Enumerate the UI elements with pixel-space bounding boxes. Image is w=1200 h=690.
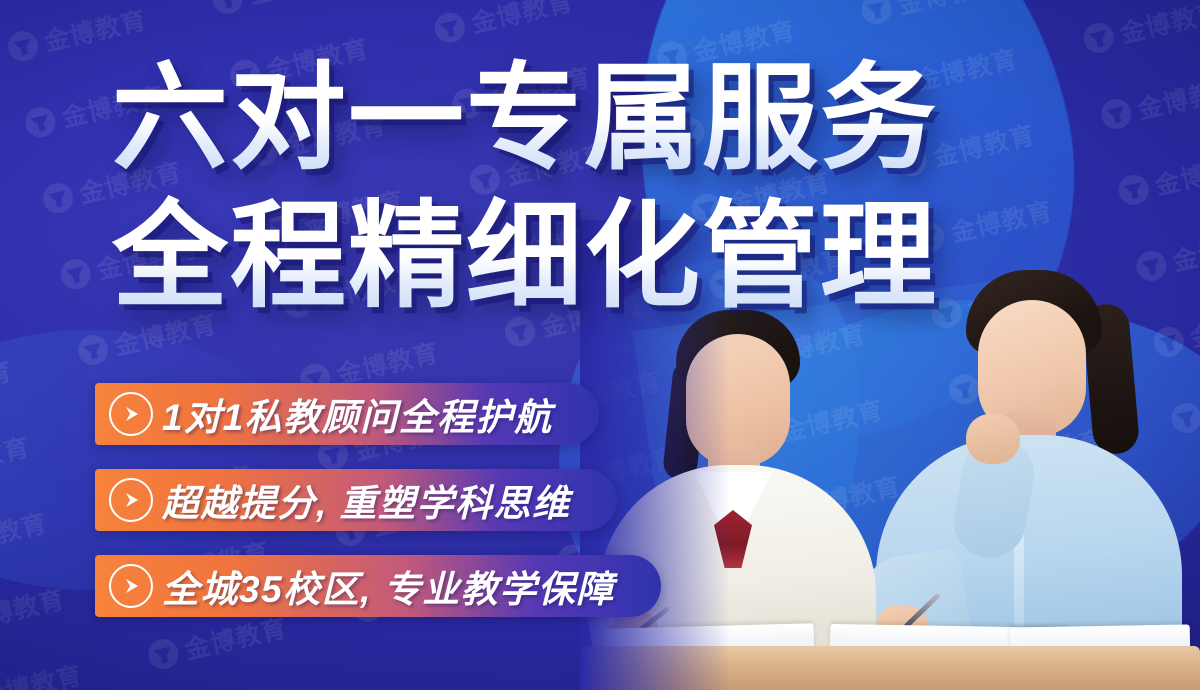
page-title: 六对一专属服务 全程精细化管理 [112,56,938,318]
feature-item-1-label: 1对1私教顾问全程护航 [162,387,553,441]
play-arrow-circle-icon [109,478,153,522]
feature-list: 1对1私教顾问全程护航 超越提分, 重塑学科思维 全城35校区, 专业教学保障 [95,383,661,617]
feature-item-2[interactable]: 超越提分, 重塑学科思维 [95,469,617,531]
feature-item-1[interactable]: 1对1私教顾问全程护航 [95,383,599,445]
headline-line-2: 全程精细化管理 [112,194,938,318]
play-arrow-circle-icon [109,392,153,436]
teacher-fist [966,414,1020,464]
promo-banner: 金博教育金博教育金博教育金博教育金博教育金博教育金博教育金博教育金博教育金博教育… [0,0,1200,690]
feature-item-3[interactable]: 全城35校区, 专业教学保障 [95,555,661,617]
headline-line-1: 六对一专属服务 [112,56,938,180]
play-arrow-circle-icon [109,564,153,608]
feature-item-2-label: 超越提分, 重塑学科思维 [162,473,571,527]
feature-item-3-label: 全城35校区, 专业教学保障 [162,559,615,613]
